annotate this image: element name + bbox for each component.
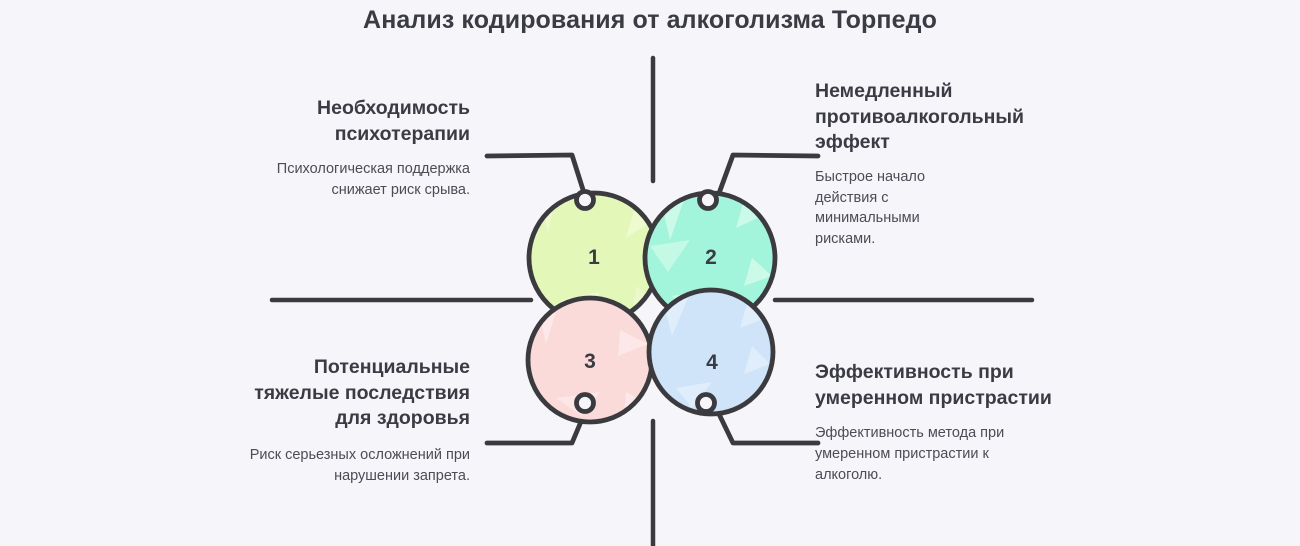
callout-leader-2 bbox=[718, 155, 818, 196]
circle-number-3: 3 bbox=[575, 350, 605, 374]
quadrant-4-body: Эффективность метода при умеренном прист… bbox=[815, 423, 1020, 485]
quadrant-4-callout: Эффективность при умеренном пристрастии … bbox=[815, 360, 1067, 485]
callout-leader-1 bbox=[487, 155, 585, 196]
quadrant-3-callout: Потенциальные тяжелые последствия для зд… bbox=[230, 355, 470, 486]
circle-number-1: 1 bbox=[579, 246, 609, 270]
connector-node-4 bbox=[698, 395, 715, 412]
quadrant-2-callout: Немедленный противоалкогольный эффект Бы… bbox=[815, 79, 1067, 250]
connector-node-3 bbox=[577, 395, 594, 412]
quadrant-3-heading: Потенциальные тяжелые последствия для зд… bbox=[230, 355, 470, 432]
callout-leader-4 bbox=[718, 412, 818, 443]
venn-diagram bbox=[0, 0, 1300, 546]
circle-number-4: 4 bbox=[697, 351, 727, 375]
quadrant-3-body: Риск серьезных осложнений при нарушении … bbox=[230, 445, 470, 486]
quadrant-2-body: Быстрое начало действия с минимальными р… bbox=[815, 167, 955, 249]
quadrant-2-heading: Немедленный противоалкогольный эффект bbox=[815, 79, 1067, 156]
connector-node-2 bbox=[700, 192, 717, 209]
circle-number-2: 2 bbox=[696, 246, 726, 270]
quadrant-1-heading: Необходимость психотерапии bbox=[230, 96, 470, 147]
quadrant-4-heading: Эффективность при умеренном пристрастии bbox=[815, 360, 1067, 411]
quadrant-1-callout: Необходимость психотерапии Психологическ… bbox=[230, 96, 470, 201]
infographic-canvas: Анализ кодирования от алкоголизма Торпед… bbox=[0, 0, 1300, 546]
quadrant-1-body: Психологическая поддержка снижает риск с… bbox=[230, 159, 470, 200]
connector-node-1 bbox=[577, 192, 594, 209]
